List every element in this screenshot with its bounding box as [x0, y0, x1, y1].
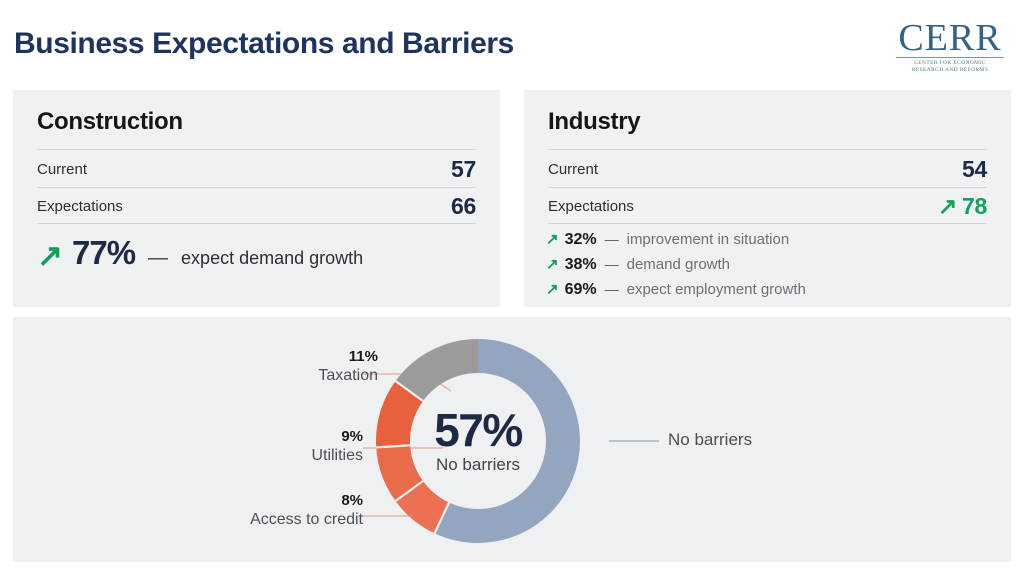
arrow-up-right-icon: ↗ [37, 240, 63, 271]
callout-utilities: 9% Utilities [163, 428, 363, 465]
logo-subtitle-line1: Center for Economic [892, 60, 1008, 67]
donut-center-caption: No barriers [398, 455, 558, 475]
metric-value: 57 [451, 156, 476, 183]
card-title-construction: Construction [37, 108, 183, 136]
logo-subtitle-line2: Research and Reforms [892, 67, 1008, 74]
bullet-percent: 32% [565, 231, 597, 249]
metric-label: Expectations [37, 198, 123, 215]
bullet-percent: 38% [565, 256, 597, 274]
metric-number: 78 [962, 193, 987, 220]
divider [548, 223, 987, 224]
arrow-up-right-icon: ↗ [546, 232, 559, 247]
callout-percent: 9% [163, 428, 363, 445]
callout-no-barriers: No barriers [668, 430, 752, 450]
card-title-industry: Industry [548, 108, 640, 136]
bullet-text: improvement in situation [627, 231, 790, 248]
donut-center-percent: 57% [398, 407, 558, 453]
highlight-text: expect demand growth [181, 248, 363, 269]
bullet-dash: — [603, 231, 621, 247]
divider [37, 223, 476, 224]
barriers-chart-panel: 57% No barriers 11% Taxation 9% Utilitie… [13, 317, 1011, 562]
bullet-text: expect employment growth [627, 281, 806, 298]
divider [37, 149, 476, 150]
arrow-up-right-icon: ↗ [546, 282, 559, 297]
metric-label: Expectations [548, 198, 634, 215]
highlight-dash: — [144, 247, 172, 270]
arrow-up-right-icon: ↗ [546, 257, 559, 272]
list-item: ↗ 32% — improvement in situation [546, 231, 806, 256]
industry-bullets: ↗ 32% — improvement in situation ↗ 38% —… [546, 231, 806, 306]
highlight-percent: 77% [72, 234, 135, 272]
logo-wordmark: CERR [892, 20, 1008, 56]
bullet-dash: — [603, 256, 621, 272]
page-title: Business Expectations and Barriers [14, 27, 514, 61]
page-header: Business Expectations and Barriers CERR … [0, 0, 1024, 86]
metric-value-positive: ↗ 78 [938, 193, 987, 220]
bullet-text: demand growth [627, 256, 730, 273]
metric-label: Current [37, 161, 87, 178]
metric-row-current: Current 54 [548, 151, 987, 187]
card-construction: Construction Current 57 Expectations 66 … [13, 90, 500, 307]
metric-value: 66 [451, 193, 476, 220]
list-item: ↗ 38% — demand growth [546, 256, 806, 281]
arrow-up-right-icon: ↗ [938, 195, 957, 218]
donut-center-label-group: 57% No barriers [398, 407, 558, 475]
bullet-percent: 69% [565, 281, 597, 299]
callout-percent: 8% [123, 492, 363, 509]
metric-row-current: Current 57 [37, 151, 476, 187]
callout-label: Utilities [163, 447, 363, 465]
bullet-dash: — [603, 281, 621, 297]
metric-label: Current [548, 161, 598, 178]
card-industry: Industry Current 54 Expectations ↗ 78 ↗ … [524, 90, 1011, 307]
callout-label: No barriers [668, 430, 752, 450]
list-item: ↗ 69% — expect employment growth [546, 281, 806, 306]
donut-chart: 57% No barriers [368, 331, 588, 551]
metric-row-expectations: Expectations 66 [37, 188, 476, 224]
callout-taxation: 11% Taxation [163, 348, 378, 385]
cerr-logo: CERR Center for Economic Research and Re… [892, 20, 1008, 73]
callout-label: Access to credit [123, 511, 363, 529]
callout-label: Taxation [163, 367, 378, 385]
metric-value: 54 [962, 156, 987, 183]
callout-access-to-credit: 8% Access to credit [123, 492, 363, 529]
callout-percent: 11% [163, 348, 378, 365]
divider [548, 149, 987, 150]
highlight-demand-growth: ↗ 77% — expect demand growth [37, 234, 363, 272]
metric-row-expectations: Expectations ↗ 78 [548, 188, 987, 224]
cards-row: Construction Current 57 Expectations 66 … [13, 90, 1011, 307]
